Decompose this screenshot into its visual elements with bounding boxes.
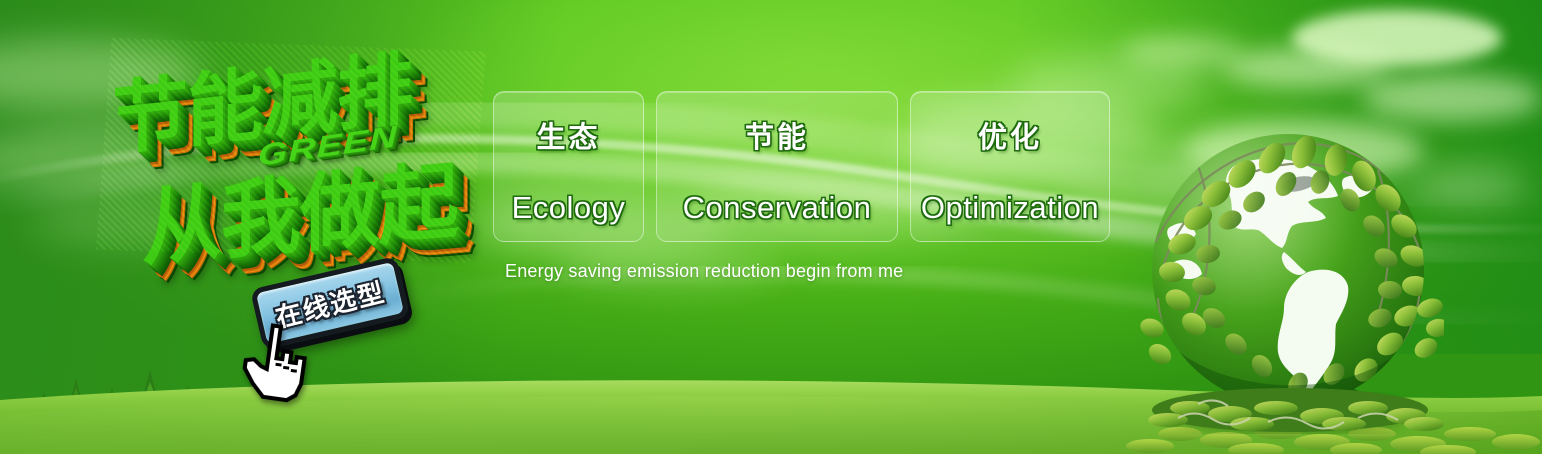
feature-card-optimization[interactable]: 优化 Optimization	[910, 91, 1110, 242]
feature-cards: 生态 Ecology 节能 Conservation 优化 Optimizati…	[493, 91, 1110, 242]
feature-card-optimization-cn: 优化	[978, 114, 1042, 156]
pointing-hand-cursor-icon	[233, 315, 316, 406]
feature-card-conservation-cn: 节能	[745, 114, 809, 156]
feature-card-conservation[interactable]: 节能 Conservation	[656, 91, 898, 242]
green-energy-banner: 节能减排 从我做起 GREEN 在线选型 生态 Ecology 节能 Conse…	[0, 0, 1542, 454]
feature-card-ecology-en: Ecology	[512, 190, 626, 226]
headline-3d-text: 节能减排 从我做起 GREEN	[96, 38, 486, 263]
feature-card-ecology-cn: 生态	[536, 114, 600, 156]
leafy-earth-globe-icon	[1138, 122, 1444, 434]
feature-card-ecology[interactable]: 生态 Ecology	[493, 91, 644, 242]
feature-card-optimization-en: Optimization	[921, 190, 1099, 226]
feature-card-conservation-en: Conservation	[683, 190, 872, 226]
banner-tagline: Energy saving emission reduction begin f…	[505, 261, 903, 282]
